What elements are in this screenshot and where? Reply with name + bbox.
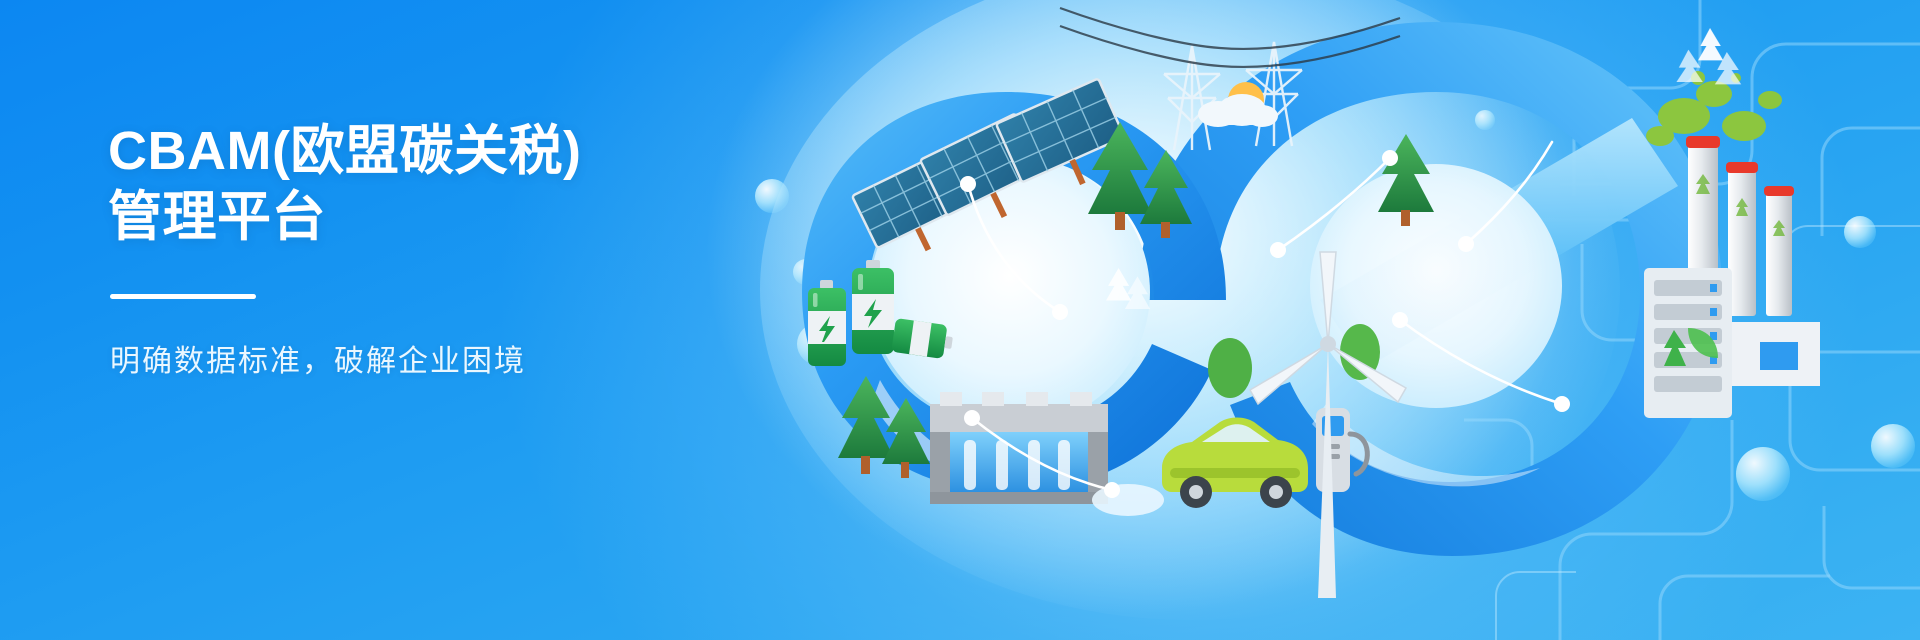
- hero-subtitle: 明确数据标准，破解企业困境: [110, 341, 868, 383]
- hero-copy-block: CBAM(欧盟碳关税) 管理平台 明确数据标准，破解企业困境: [108, 118, 868, 383]
- title-divider: [110, 294, 256, 299]
- smoke-cloud: [1646, 71, 1782, 146]
- bush: [1208, 338, 1252, 398]
- cbam-hero-banner: CBAM(欧盟碳关税) 管理平台 明确数据标准，破解企业困境: [0, 0, 1920, 640]
- page-title-line1: CBAM(欧盟碳关税): [108, 118, 868, 184]
- server-rack-building: [1644, 268, 1732, 418]
- page-title-line2: 管理平台: [108, 184, 868, 250]
- circular-economy-illustration: [760, 0, 1920, 640]
